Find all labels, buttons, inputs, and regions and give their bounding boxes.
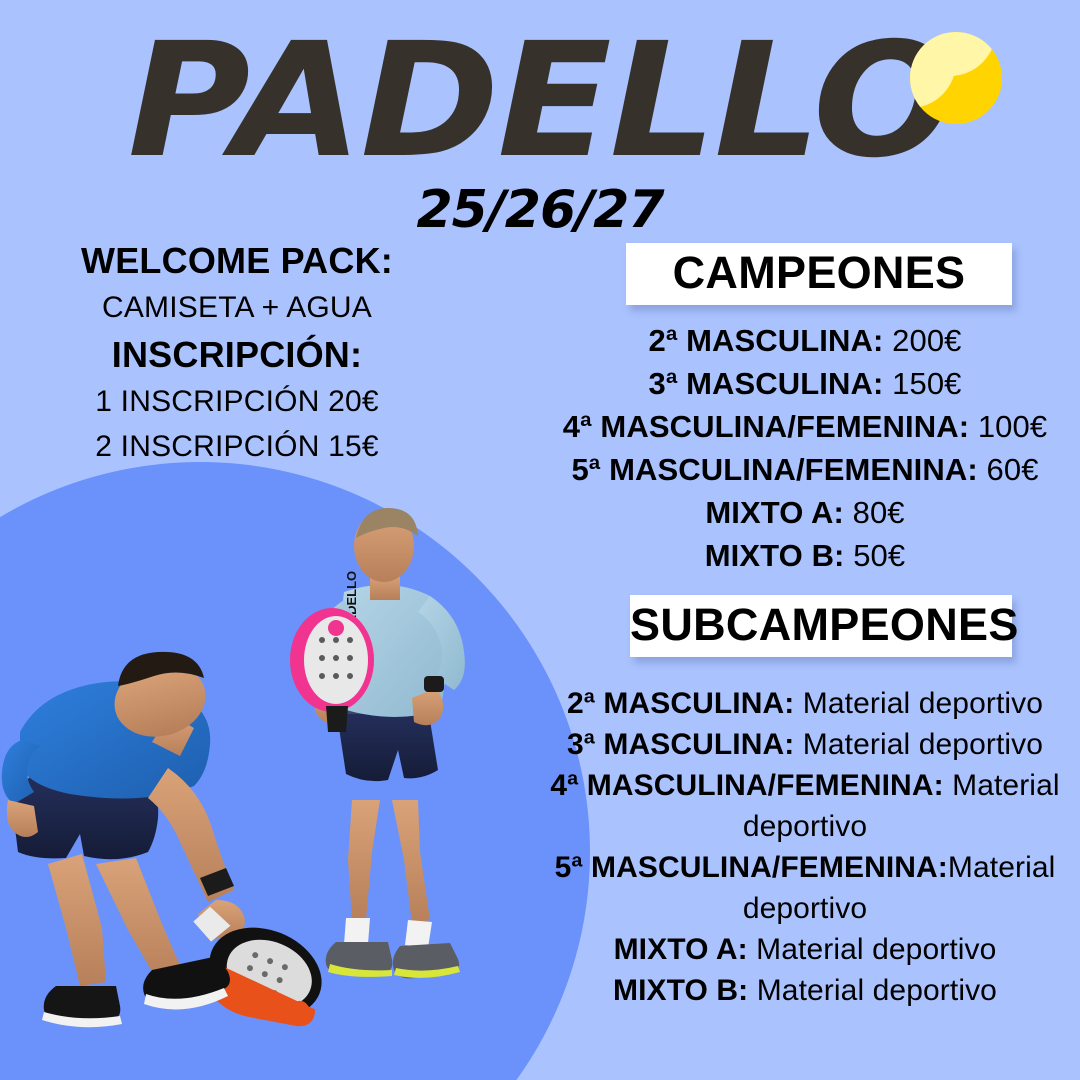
campeones-prize-list: 2ª MASCULINA: 200€ 3ª MASCULINA: 150€ 4ª… <box>540 319 1070 577</box>
prize-category: 3ª MASCULINA: <box>567 728 794 761</box>
list-item: MIXTO A: 80€ <box>540 491 1070 534</box>
list-item: 5ª MASCULINA/FEMENINA:Material deportivo <box>540 847 1070 929</box>
prize-category: 4ª MASCULINA/FEMENINA: <box>563 409 969 444</box>
prize-category: 4ª MASCULINA/FEMENINA: <box>550 769 943 802</box>
list-item: 3ª MASCULINA: Material deportivo <box>540 724 1070 765</box>
subcampeones-banner: SUBCAMPEONES <box>630 595 1012 657</box>
player-left <box>2 652 339 1041</box>
left-info-block: WELCOME PACK: CAMISETA + AGUA INSCRIPCIÓ… <box>14 236 460 469</box>
prize-value: 50€ <box>844 538 905 573</box>
list-item: MIXTO A: Material deportivo <box>540 929 1070 970</box>
inscripcion-row-1: 1 INSCRIPCIÓN 20€ <box>14 379 460 424</box>
prize-category: MIXTO B: <box>613 974 748 1007</box>
subcampeones-prize-list: 2ª MASCULINA: Material deportivo 3ª MASC… <box>540 683 1070 1011</box>
prize-value: 200€ <box>883 323 961 358</box>
inscripcion-label: INSCRIPCIÓN: <box>14 330 460 379</box>
prize-category: MIXTO A: <box>614 933 748 966</box>
list-item: MIXTO B: 50€ <box>540 534 1070 577</box>
prize-value: 150€ <box>883 366 961 401</box>
prize-category: 3ª MASCULINA: <box>648 366 883 401</box>
prize-category: 2ª MASCULINA: <box>567 687 794 720</box>
prize-value: 80€ <box>844 495 905 530</box>
prize-category: 2ª MASCULINA: <box>648 323 883 358</box>
prize-value: 60€ <box>978 452 1039 487</box>
right-column: CAMPEONES 2ª MASCULINA: 200€ 3ª MASCULIN… <box>540 236 1070 1011</box>
list-item: 2ª MASCULINA: Material deportivo <box>540 683 1070 724</box>
prize-value: Material deportivo <box>748 974 997 1007</box>
list-item: 4ª MASCULINA/FEMENINA: 100€ <box>540 405 1070 448</box>
page-title: PADELLO <box>127 22 952 180</box>
prize-category: MIXTO B: <box>705 538 845 573</box>
prize-category: 5ª MASCULINA/FEMENINA: <box>555 851 948 884</box>
list-item: 4ª MASCULINA/FEMENINA: Material deportiv… <box>540 765 1070 847</box>
section-spacer <box>540 577 1070 595</box>
list-item: 3ª MASCULINA: 150€ <box>540 362 1070 405</box>
prize-value: Material deportivo <box>794 728 1043 761</box>
list-item: 5ª MASCULINA/FEMENINA: 60€ <box>540 448 1070 491</box>
poster-root: PADELLO <box>0 0 1080 1080</box>
welcome-pack-value: CAMISETA + AGUA <box>14 285 460 330</box>
prize-category: MIXTO A: <box>705 495 844 530</box>
player-right: PADELLO <box>290 508 465 978</box>
subcampeones-banner-label: SUBCAMPEONES <box>630 601 1012 649</box>
list-item: 2ª MASCULINA: 200€ <box>540 319 1070 362</box>
prize-value: 100€ <box>969 409 1047 444</box>
tennis-ball-icon <box>910 32 1002 124</box>
campeones-banner: CAMPEONES <box>626 243 1012 305</box>
event-dates: 25/26/27 <box>0 182 1080 238</box>
welcome-pack-label: WELCOME PACK: <box>14 236 460 285</box>
prize-value: Material deportivo <box>794 687 1043 720</box>
prize-category: 5ª MASCULINA/FEMENINA: <box>571 452 977 487</box>
list-item: MIXTO B: Material deportivo <box>540 970 1070 1011</box>
campeones-banner-label: CAMPEONES <box>626 249 1012 297</box>
padel-players-photo: PADELLO <box>0 500 560 1080</box>
prize-value: Material deportivo <box>748 933 997 966</box>
inscripcion-row-2: 2 INSCRIPCIÓN 15€ <box>14 424 460 469</box>
